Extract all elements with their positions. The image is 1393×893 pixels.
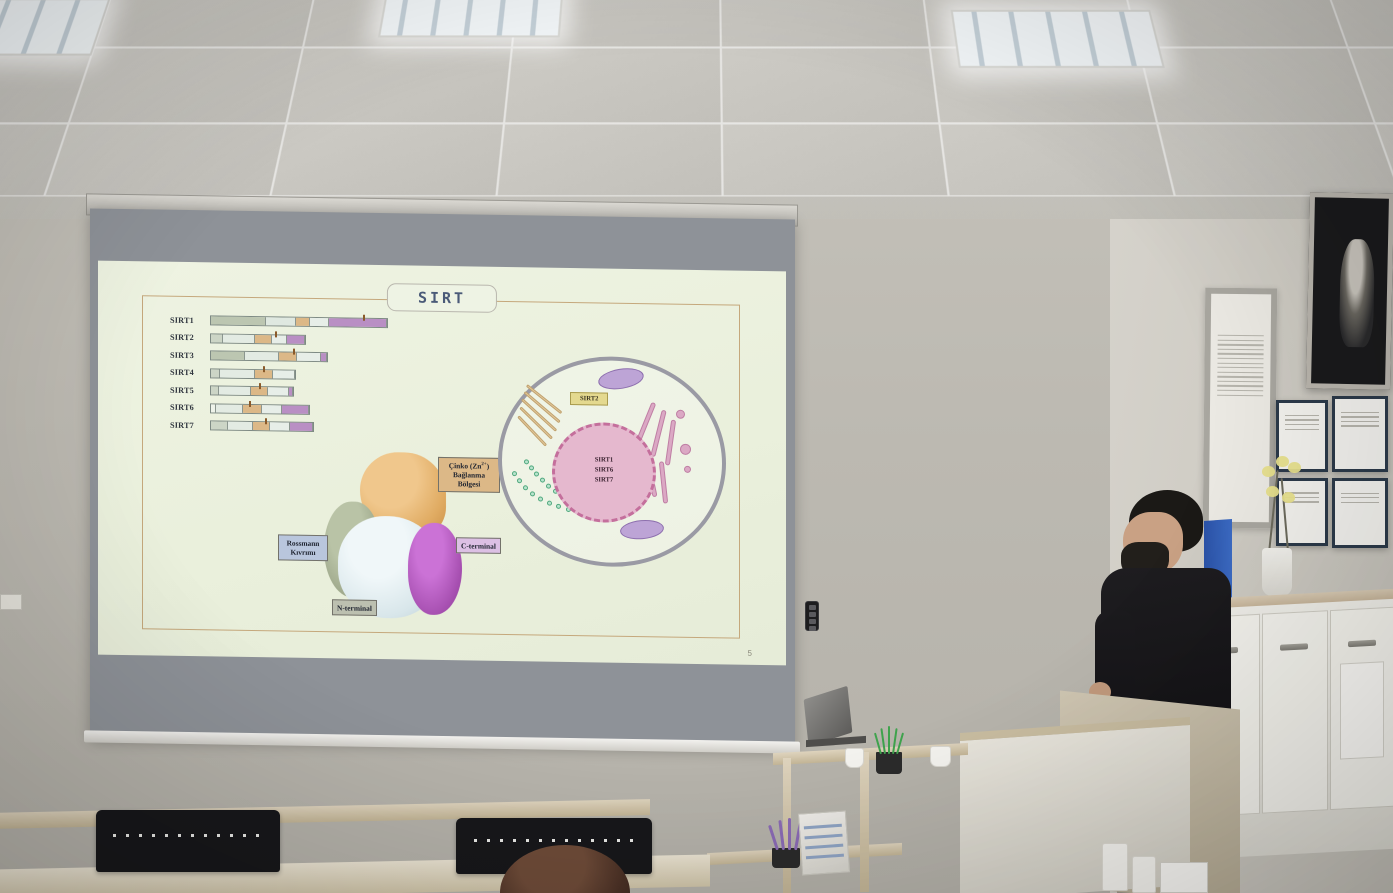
zinc-label-line2: Bağlanma <box>453 470 485 480</box>
certificate-text-lines <box>1341 412 1379 430</box>
sirt-domain-bar <box>210 315 388 328</box>
wall-outlet[interactable] <box>0 594 22 610</box>
sirt-row: SIRT2 <box>170 331 388 346</box>
ceiling-light-panel <box>951 10 1165 68</box>
framed-certificate <box>1332 478 1388 548</box>
document-text-lines <box>1217 335 1263 400</box>
er-vesicle <box>680 444 691 455</box>
rossmann-label-line2: Kıvrımı <box>290 547 315 556</box>
mug <box>845 748 864 768</box>
ceiling-light-panel <box>0 0 111 56</box>
sirt-row-label: SIRT6 <box>170 403 210 413</box>
student-chair[interactable] <box>96 810 280 872</box>
nucleus-sirt-labels: SIRT1 SIRT6 SIRT7 <box>555 455 653 487</box>
sirt-domain-bar <box>210 420 314 432</box>
sirt-domain-segment <box>220 369 255 378</box>
sirt-domain-segment <box>268 387 289 395</box>
sirt-row-label: SIRT2 <box>170 333 210 343</box>
drop-ceiling <box>0 0 1393 219</box>
sirt-domain-bar <box>210 368 296 379</box>
sirt-domain-bar <box>210 333 306 345</box>
certificate-text-lines <box>1285 415 1320 433</box>
sirt-domain-segment <box>273 370 295 378</box>
zinc-label-line1: Çinko (Zn <box>449 461 482 471</box>
sirt-catalytic-tick <box>259 383 261 389</box>
posted-paper-note <box>1340 661 1384 759</box>
sirt-row: SIRT3 <box>170 349 388 364</box>
framed-certificate <box>1332 396 1388 472</box>
ceiling-light-panel <box>378 0 564 37</box>
zinc-label-paren: ) <box>487 461 489 470</box>
sirt-domain-segment <box>270 422 290 430</box>
mug <box>930 746 951 767</box>
framed-portrait <box>1306 192 1393 390</box>
cabinet-door[interactable] <box>1262 610 1328 813</box>
podium-box <box>1160 862 1208 893</box>
sirt-domain-segment <box>253 422 270 430</box>
sirt-domain-segment <box>211 351 245 360</box>
sirt-domain-segment <box>262 405 282 413</box>
sirt-domain-segment <box>255 335 271 343</box>
zinc-binding-label: Çinko (Zn2+) Bağlanma Bölgesi <box>438 457 500 493</box>
sirt-catalytic-tick <box>249 400 251 406</box>
sirt-domain-bar <box>210 350 328 362</box>
zinc-label-line3: Bölgesi <box>458 479 481 488</box>
classroom-scene: SIRT 5 SIRT1SIRT2SIRT3SIRT4SIRT5SIRT6SIR… <box>0 0 1393 893</box>
sirt-row-label: SIRT4 <box>170 368 210 378</box>
nucleus-label-sirt1: SIRT1 <box>595 456 613 463</box>
sirt-domain-segment <box>211 421 228 429</box>
sirt-domain-segment <box>228 422 253 430</box>
er-vesicle <box>684 466 691 473</box>
sirt-row: SIRT7 <box>170 419 388 434</box>
sirt-domain-segment <box>243 404 262 412</box>
sirt-domain-segment <box>297 353 321 361</box>
sirt-row: SIRT4 <box>170 366 388 381</box>
sirt-domain-segment <box>287 335 305 343</box>
c-terminal-lobe <box>408 522 462 615</box>
sirt-domain-segment <box>310 318 329 326</box>
er-vesicle <box>676 410 685 419</box>
certificate-text-lines <box>1341 493 1379 507</box>
bottle <box>1102 843 1128 891</box>
sirt-row-label: SIRT1 <box>170 315 210 325</box>
sirt-domain-segment <box>211 334 223 342</box>
slide-title: SIRT <box>387 283 497 313</box>
sirt-catalytic-tick <box>263 366 265 372</box>
sirt-catalytic-tick <box>363 315 365 321</box>
sirt-domain-segment <box>321 353 327 361</box>
lavender-pot <box>772 848 800 868</box>
sirt-domain-segment <box>245 352 279 361</box>
sirt-isoform-chart: SIRT1SIRT2SIRT3SIRT4SIRT5SIRT6SIRT7 <box>170 314 388 440</box>
cell-localization-diagram: SIRT1 SIRT6 SIRT7 SIRT2 <box>498 355 726 569</box>
sirt-domain-segment <box>219 386 251 394</box>
document-stand <box>798 810 850 875</box>
slide-page-number: 5 <box>748 649 752 658</box>
sirt-domain-segment <box>223 334 255 343</box>
projector-screen: SIRT 5 SIRT1SIRT2SIRT3SIRT4SIRT5SIRT6SIR… <box>90 208 795 749</box>
cytoplasm-sirt2-label: SIRT2 <box>570 392 608 406</box>
sirt-domain-segment <box>290 423 313 431</box>
sirt-domain-segment <box>211 386 219 394</box>
nucleus: SIRT1 SIRT6 SIRT7 <box>552 422 656 524</box>
sirt-domain-segment <box>282 405 309 413</box>
sirt-row: SIRT5 <box>170 384 388 399</box>
sirt-catalytic-tick <box>293 349 295 355</box>
sirt-row-label: SIRT3 <box>170 350 210 360</box>
sirt-domain-segment <box>329 318 387 327</box>
sirt-catalytic-tick <box>275 331 277 337</box>
sirt-domain-segment <box>216 404 243 412</box>
nucleus-label-sirt6: SIRT6 <box>595 467 613 474</box>
desk-leg <box>860 752 869 892</box>
sirt-row: SIRT6 <box>170 401 388 416</box>
sirt-row-label: SIRT7 <box>170 420 210 430</box>
sirt-domain-segment <box>211 369 220 377</box>
projected-slide: SIRT 5 SIRT1SIRT2SIRT3SIRT4SIRT5SIRT6SIR… <box>98 261 786 666</box>
sirt-domain-segment <box>289 388 293 396</box>
portrait-figure <box>1338 239 1374 348</box>
wall-switch-panel[interactable] <box>805 601 819 631</box>
sirt-domain-bar <box>210 403 310 415</box>
rossmann-label-line1: Rossmann <box>287 538 320 548</box>
protein-structure-render: Çinko (Zn2+) Bağlanma Bölgesi Rossmann K… <box>288 449 503 627</box>
sirt-domain-segment <box>211 316 266 325</box>
bottle <box>1132 856 1156 893</box>
nucleus-label-sirt7: SIRT7 <box>595 477 613 484</box>
sirt-row: SIRT1 <box>170 314 388 329</box>
c-terminal-label: C-terminal <box>456 537 501 554</box>
sirt-domain-segment <box>296 318 311 326</box>
sirt-row-label: SIRT5 <box>170 385 210 395</box>
flower-vase <box>1262 548 1292 596</box>
rossmann-fold-label: Rossmann Kıvrımı <box>278 534 328 560</box>
sirt-catalytic-tick <box>265 418 267 424</box>
sirt-domain-bar <box>210 385 294 396</box>
plant-pot <box>876 752 902 774</box>
n-terminal-label: N-terminal <box>332 599 377 616</box>
sirt-domain-segment <box>266 317 295 325</box>
